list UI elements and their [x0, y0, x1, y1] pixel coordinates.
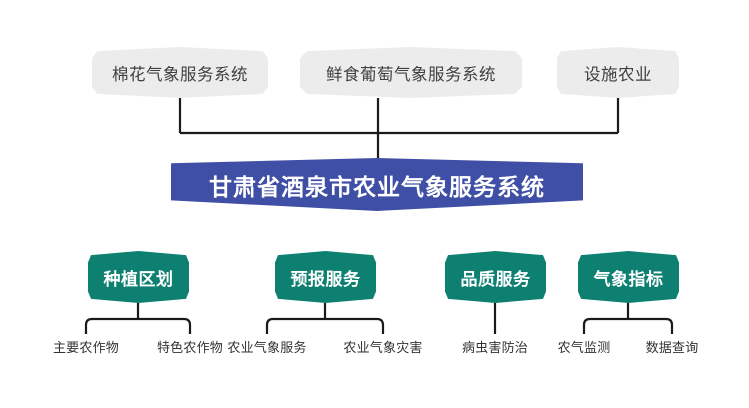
top-node-facility-agriculture-label: 设施农业	[584, 61, 652, 85]
top-node-facility-agriculture[interactable]: 设施农业	[557, 47, 679, 98]
leaf-data-query-label: 数据查询	[646, 340, 699, 355]
leaf-agrometeorological-service[interactable]: 农业气象服务	[209, 337, 325, 356]
leaf-pest-control-label: 病虫害防治	[462, 340, 528, 355]
branch-module-4-left	[584, 319, 628, 334]
module-node-forecast-service-label: 预报服务	[291, 265, 361, 290]
module-node-meteorological-index[interactable]: 气象指标	[578, 251, 679, 303]
leaf-agrometeorological-disaster-label: 农业气象灾害	[343, 340, 422, 355]
branch-module-1-left	[86, 319, 138, 334]
leaf-agro-monitoring[interactable]: 农气监测	[542, 337, 626, 356]
leaf-main-crops-label: 主要农作物	[53, 340, 119, 355]
main-system-banner[interactable]: 甘肃省酒泉市农业气象服务系统	[171, 158, 583, 211]
top-node-cotton-label: 棉花气象服务系统	[112, 61, 248, 85]
module-node-quality-service-label: 品质服务	[461, 265, 531, 290]
branch-module-1-right	[138, 319, 190, 334]
top-node-table-grape[interactable]: 鲜食葡萄气象服务系统	[300, 47, 522, 98]
branch-module-4-right	[628, 319, 672, 334]
leaf-pest-control[interactable]: 病虫害防治	[443, 337, 547, 356]
module-node-forecast-service[interactable]: 预报服务	[275, 251, 376, 303]
module-node-planting-zoning[interactable]: 种植区划	[88, 251, 189, 303]
module-node-quality-service[interactable]: 品质服务	[445, 251, 546, 303]
module-node-meteorological-index-label: 气象指标	[594, 265, 664, 290]
top-node-cotton[interactable]: 棉花气象服务系统	[92, 47, 268, 98]
org-diagram: 棉花气象服务系统 鲜食葡萄气象服务系统 设施农业 甘肃省酒泉市农业气象服务系统 …	[0, 0, 749, 408]
branch-module-2-left	[267, 319, 325, 334]
main-system-banner-label: 甘肃省酒泉市农业气象服务系统	[209, 168, 545, 202]
branch-module-2-right	[325, 319, 383, 334]
leaf-data-query[interactable]: 数据查询	[630, 337, 714, 356]
leaf-main-crops[interactable]: 主要农作物	[36, 337, 136, 356]
leaf-agrometeorological-disaster[interactable]: 农业气象灾害	[325, 337, 441, 356]
leaf-agrometeorological-service-label: 农业气象服务	[227, 340, 306, 355]
leaf-agro-monitoring-label: 农气监测	[558, 340, 611, 355]
top-node-table-grape-label: 鲜食葡萄气象服务系统	[326, 61, 496, 85]
module-node-planting-zoning-label: 种植区划	[104, 265, 174, 290]
